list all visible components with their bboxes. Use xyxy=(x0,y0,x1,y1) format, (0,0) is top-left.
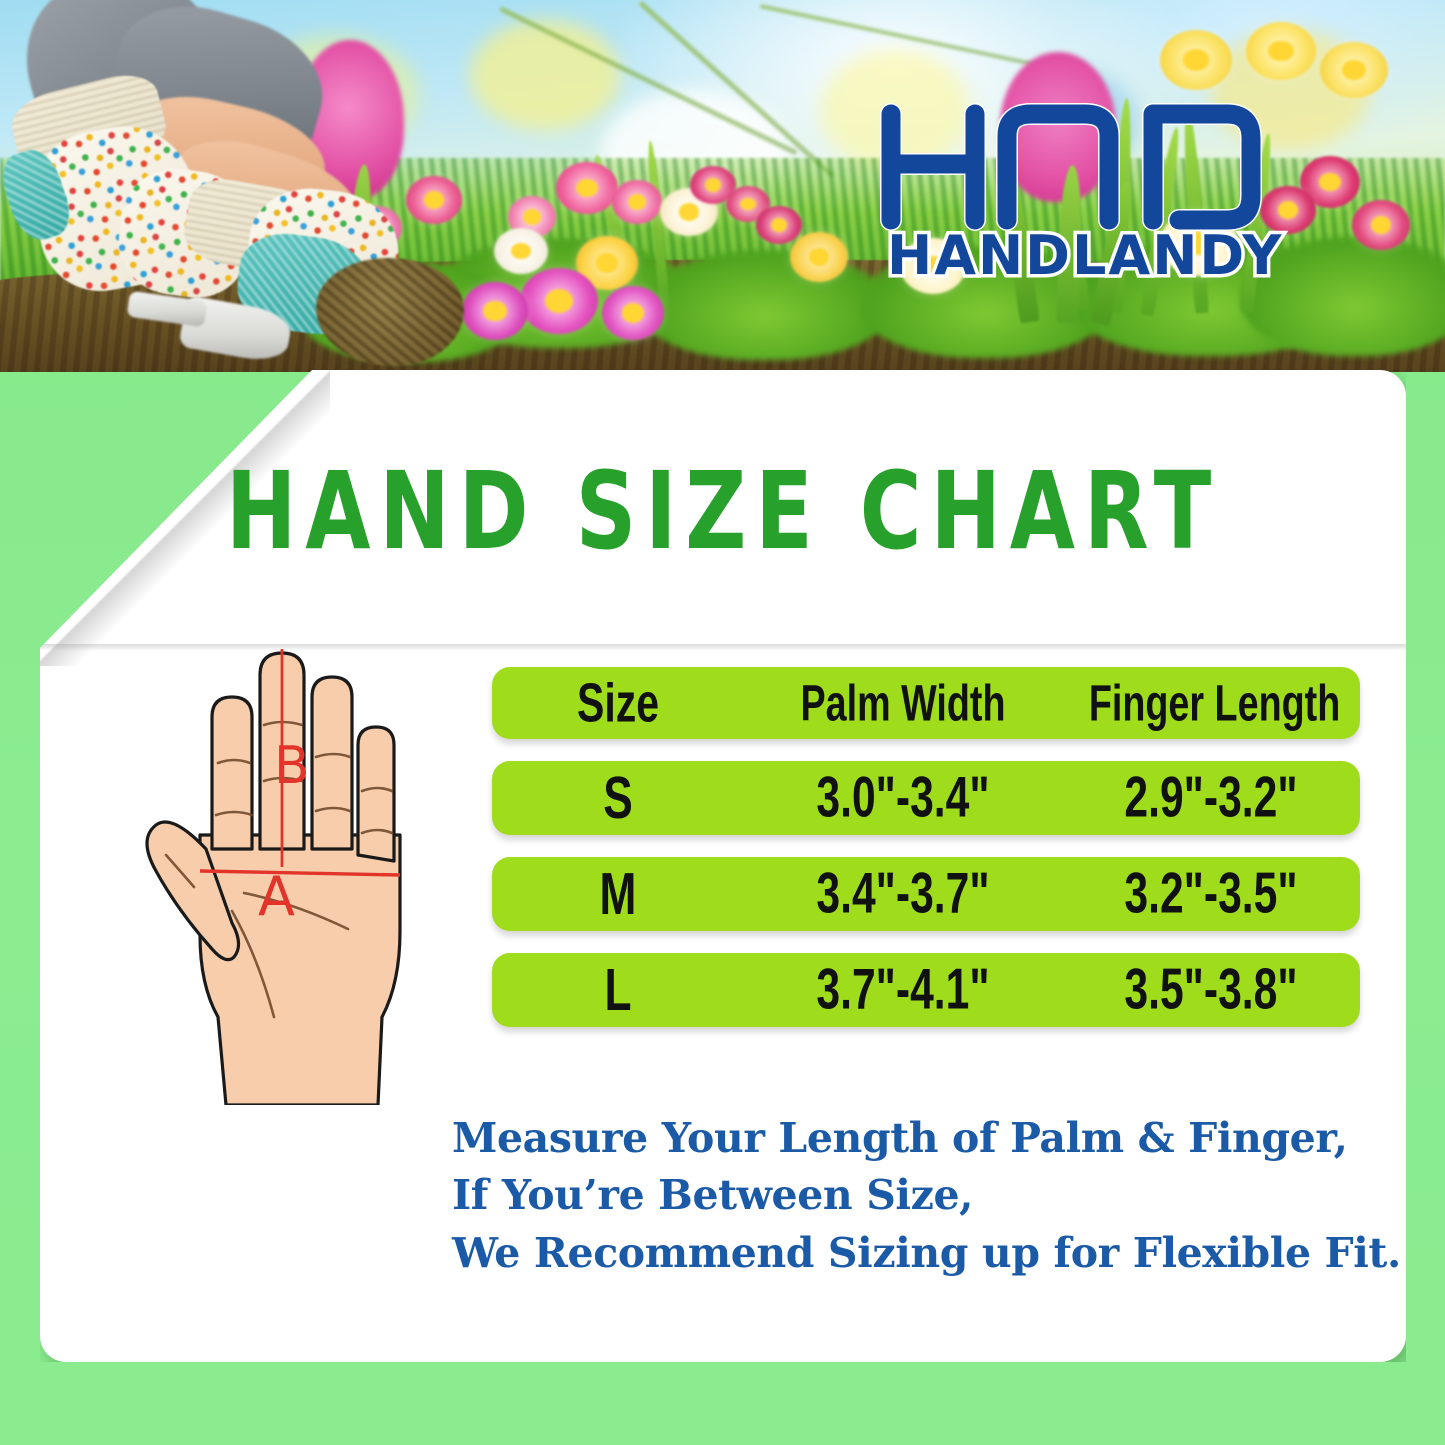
label-finger-length: B xyxy=(274,736,310,796)
primrose-magenta xyxy=(462,282,528,340)
cell-size: S xyxy=(515,764,722,832)
sizing-note-line-2: If You’re Between Size, xyxy=(452,1167,1401,1224)
cell-finger-length: 2.9"-3.2" xyxy=(1089,765,1333,831)
primrose-yellow xyxy=(790,232,848,282)
daffodil xyxy=(1320,42,1388,98)
daisy-white xyxy=(494,228,548,274)
column-header-finger-length: Finger Length xyxy=(1089,673,1333,732)
cell-palm-width: 3.7"-4.1" xyxy=(773,957,1034,1023)
column-header-size: Size xyxy=(515,671,722,735)
daffodil xyxy=(1160,30,1232,90)
daisy-pink xyxy=(1352,200,1410,250)
daisy-pink xyxy=(612,180,662,224)
cell-size: L xyxy=(515,956,722,1024)
size-table: Size Palm Width Finger Length S 3.0"-3.4… xyxy=(492,667,1360,1049)
daisy-pink xyxy=(756,206,802,244)
table-row: L 3.7"-4.1" 3.5"-3.8" xyxy=(492,953,1360,1027)
cell-finger-length: 3.5"-3.8" xyxy=(1089,957,1333,1023)
daisy-pink xyxy=(406,176,462,224)
hand-measurement-diagram: B A xyxy=(108,635,478,1105)
column-header-palm-width: Palm Width xyxy=(773,673,1034,732)
logo-wordmark: HANDLANDY xyxy=(887,224,1283,282)
size-chart-card: HAND SIZE CHART xyxy=(40,370,1406,1362)
daffodil xyxy=(1246,22,1316,80)
logo-monogram-hd xyxy=(891,114,1251,220)
daisy-pink xyxy=(556,162,618,214)
table-row: M 3.4"-3.7" 3.2"-3.5" xyxy=(492,857,1360,931)
cell-finger-length: 3.2"-3.5" xyxy=(1089,861,1333,927)
label-palm-width: A xyxy=(258,865,295,928)
sizing-note-line-1: Measure Your Length of Palm & Finger, xyxy=(452,1110,1401,1167)
page-title: HAND SIZE CHART xyxy=(54,450,1393,574)
cell-palm-width: 3.4"-3.7" xyxy=(773,861,1034,927)
primrose-magenta xyxy=(602,286,664,340)
foliage xyxy=(640,250,890,360)
size-chart-infographic: HANDLANDY HANDLANDY HAND SIZE CHART xyxy=(0,0,1445,1445)
cell-size: M xyxy=(515,860,722,928)
cell-palm-width: 3.0"-3.4" xyxy=(773,765,1034,831)
bokeh-blob xyxy=(470,20,620,130)
sizing-note: Measure Your Length of Palm & Finger, If… xyxy=(452,1110,1401,1282)
handlandy-logo: HANDLANDY HANDLANDY xyxy=(879,92,1349,282)
primrose-magenta xyxy=(520,268,598,334)
table-row: S 3.0"-3.4" 2.9"-3.2" xyxy=(492,761,1360,835)
sizing-note-line-3: We Recommend Sizing up for Flexible Fit. xyxy=(452,1225,1401,1282)
table-header-row: Size Palm Width Finger Length xyxy=(492,667,1360,739)
